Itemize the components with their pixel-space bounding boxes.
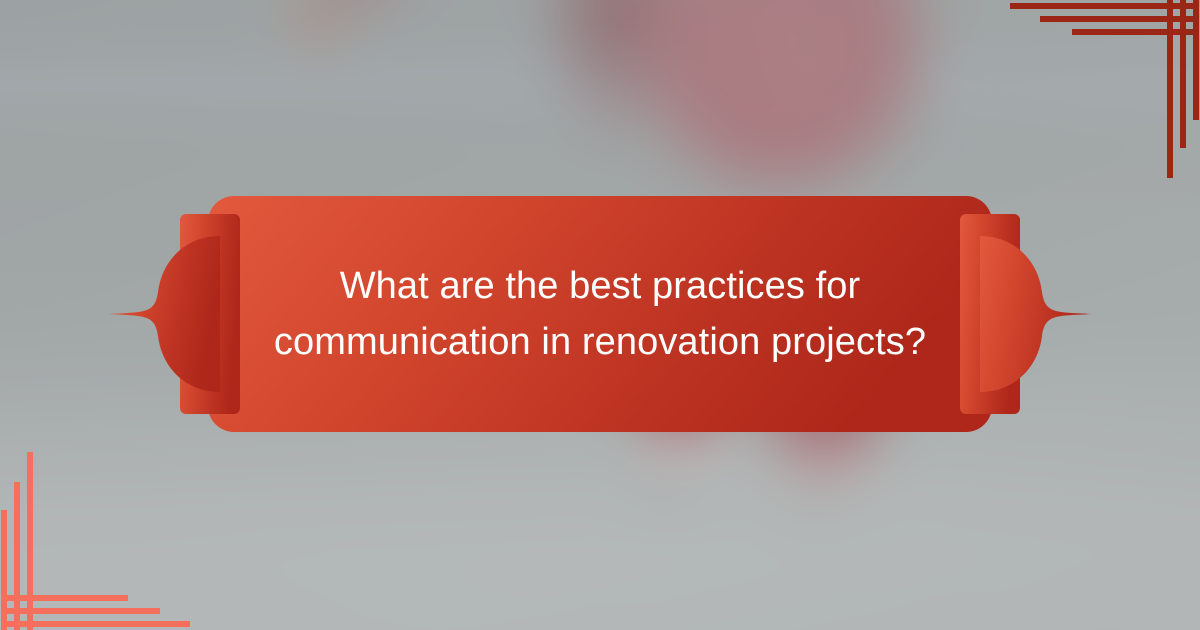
question-line-1: What are the best practices for — [340, 258, 861, 314]
question-card-canvas: What are the best practices for communic… — [0, 0, 1200, 630]
question-text-block: What are the best practices for communic… — [100, 188, 1100, 440]
question-line-2: communication in renovation projects? — [274, 314, 926, 370]
question-banner: What are the best practices for communic… — [100, 188, 1100, 440]
